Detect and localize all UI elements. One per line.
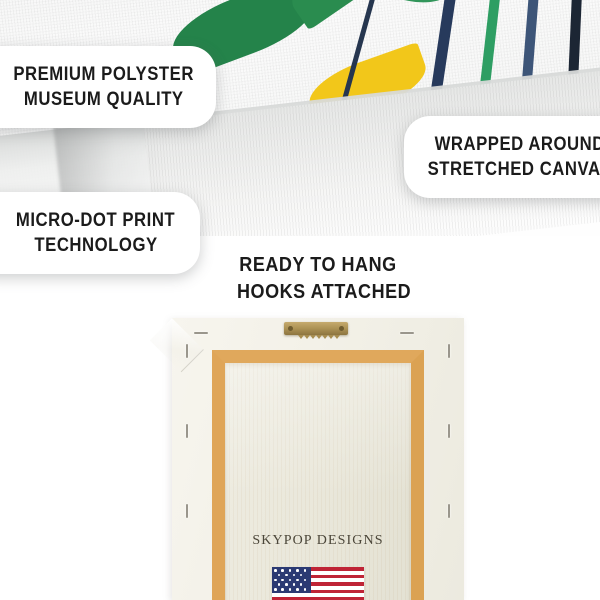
product-infographic: PREMIUM POLYSTER MUSEUM QUALITY MICRO-DO… [0, 0, 600, 600]
leaf-yellow-right [594, 0, 600, 42]
staple-left-1 [186, 344, 188, 358]
staple-left-2 [186, 424, 188, 438]
us-flag-icon [272, 567, 364, 600]
stripe-dark-navy [568, 0, 586, 79]
headline-ready-to-hang: READY TO HANG HOOKS ATTACHED [228, 252, 408, 306]
badge-premium-line1: PREMIUM POLYSTER [14, 62, 195, 87]
staple-top-3 [400, 332, 414, 334]
brand-mark: SKYPOP DESIGNS [225, 533, 411, 549]
leaf-green-small [370, 0, 454, 9]
badge-wrapped-around: WRAPPED AROUND STRETCHED CANVAS [404, 116, 600, 198]
badge-wrapped-line2: STRETCHED CANVAS [428, 157, 600, 182]
staple-top-1 [194, 332, 208, 334]
staple-right-3 [448, 504, 450, 518]
flag-canton [272, 567, 311, 593]
staple-right-2 [448, 424, 450, 438]
headline-line2: HOOKS ATTACHED [237, 279, 399, 306]
badge-microdot-line1: MICRO-DOT PRINT [16, 208, 175, 233]
badge-premium-line2: MUSEUM QUALITY [24, 87, 184, 112]
wood-highlight [225, 363, 411, 600]
staple-right-1 [448, 344, 450, 358]
badge-micro-dot-print: MICRO-DOT PRINT TECHNOLOGY [0, 192, 200, 274]
headline-line1: READY TO HANG [237, 252, 399, 279]
badge-microdot-line2: TECHNOLOGY [34, 233, 157, 258]
sawtooth-hanger [284, 322, 348, 335]
badge-wrapped-line1: WRAPPED AROUND [435, 132, 600, 157]
canvas-back-panel: SKYPOP DESIGNS [172, 318, 464, 600]
staple-left-3 [186, 504, 188, 518]
badge-premium-polyster: PREMIUM POLYSTER MUSEUM QUALITY [0, 46, 216, 128]
wooden-stretcher-frame: SKYPOP DESIGNS [212, 350, 424, 600]
